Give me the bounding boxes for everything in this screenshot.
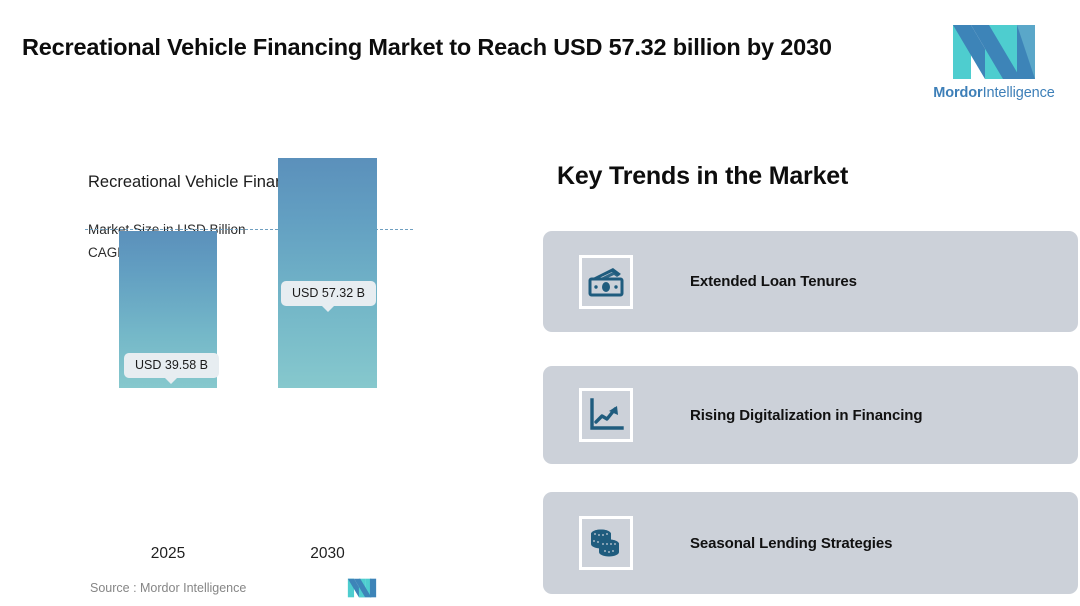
infographic-page: Recreational Vehicle Financing Market to…: [0, 0, 1080, 606]
trends-heading: Key Trends in the Market: [557, 162, 848, 191]
mordor-m-logo-small-icon: [347, 578, 377, 598]
trend-card-seasonal-lending[interactable]: Seasonal Lending Strategies: [543, 492, 1078, 594]
bar-chart-plot: USD 39.58 B USD 57.32 B 2025 2030 Source…: [0, 0, 520, 456]
mordor-m-logo-icon: [951, 23, 1037, 81]
bar-label-2030: USD 57.32 B: [281, 281, 376, 306]
trend-card-rising-digitalization[interactable]: Rising Digitalization in Financing: [543, 366, 1078, 464]
bar-2030: [278, 158, 377, 388]
trend-card-label: Rising Digitalization in Financing: [690, 407, 922, 424]
brand-logo: MordorIntelligence: [920, 23, 1068, 107]
stacked-coins-icon: [579, 516, 633, 570]
trend-card-label: Seasonal Lending Strategies: [690, 535, 892, 552]
brand-wordmark: MordorIntelligence: [933, 85, 1055, 101]
trend-card-extended-loan-tenures[interactable]: Extended Loan Tenures: [543, 231, 1078, 332]
line-chart-arrow-up-icon: [579, 388, 633, 442]
x-tick-2030: 2030: [278, 545, 377, 563]
banknotes-icon: [579, 255, 633, 309]
brand-word-bold: Mordor: [933, 85, 982, 101]
brand-word-light: Intelligence: [983, 85, 1055, 101]
trend-card-label: Extended Loan Tenures: [690, 273, 857, 290]
x-tick-2025: 2025: [119, 545, 217, 563]
bar-label-2025: USD 39.58 B: [124, 353, 219, 378]
source-text: Source : Mordor Intelligence: [90, 581, 246, 595]
